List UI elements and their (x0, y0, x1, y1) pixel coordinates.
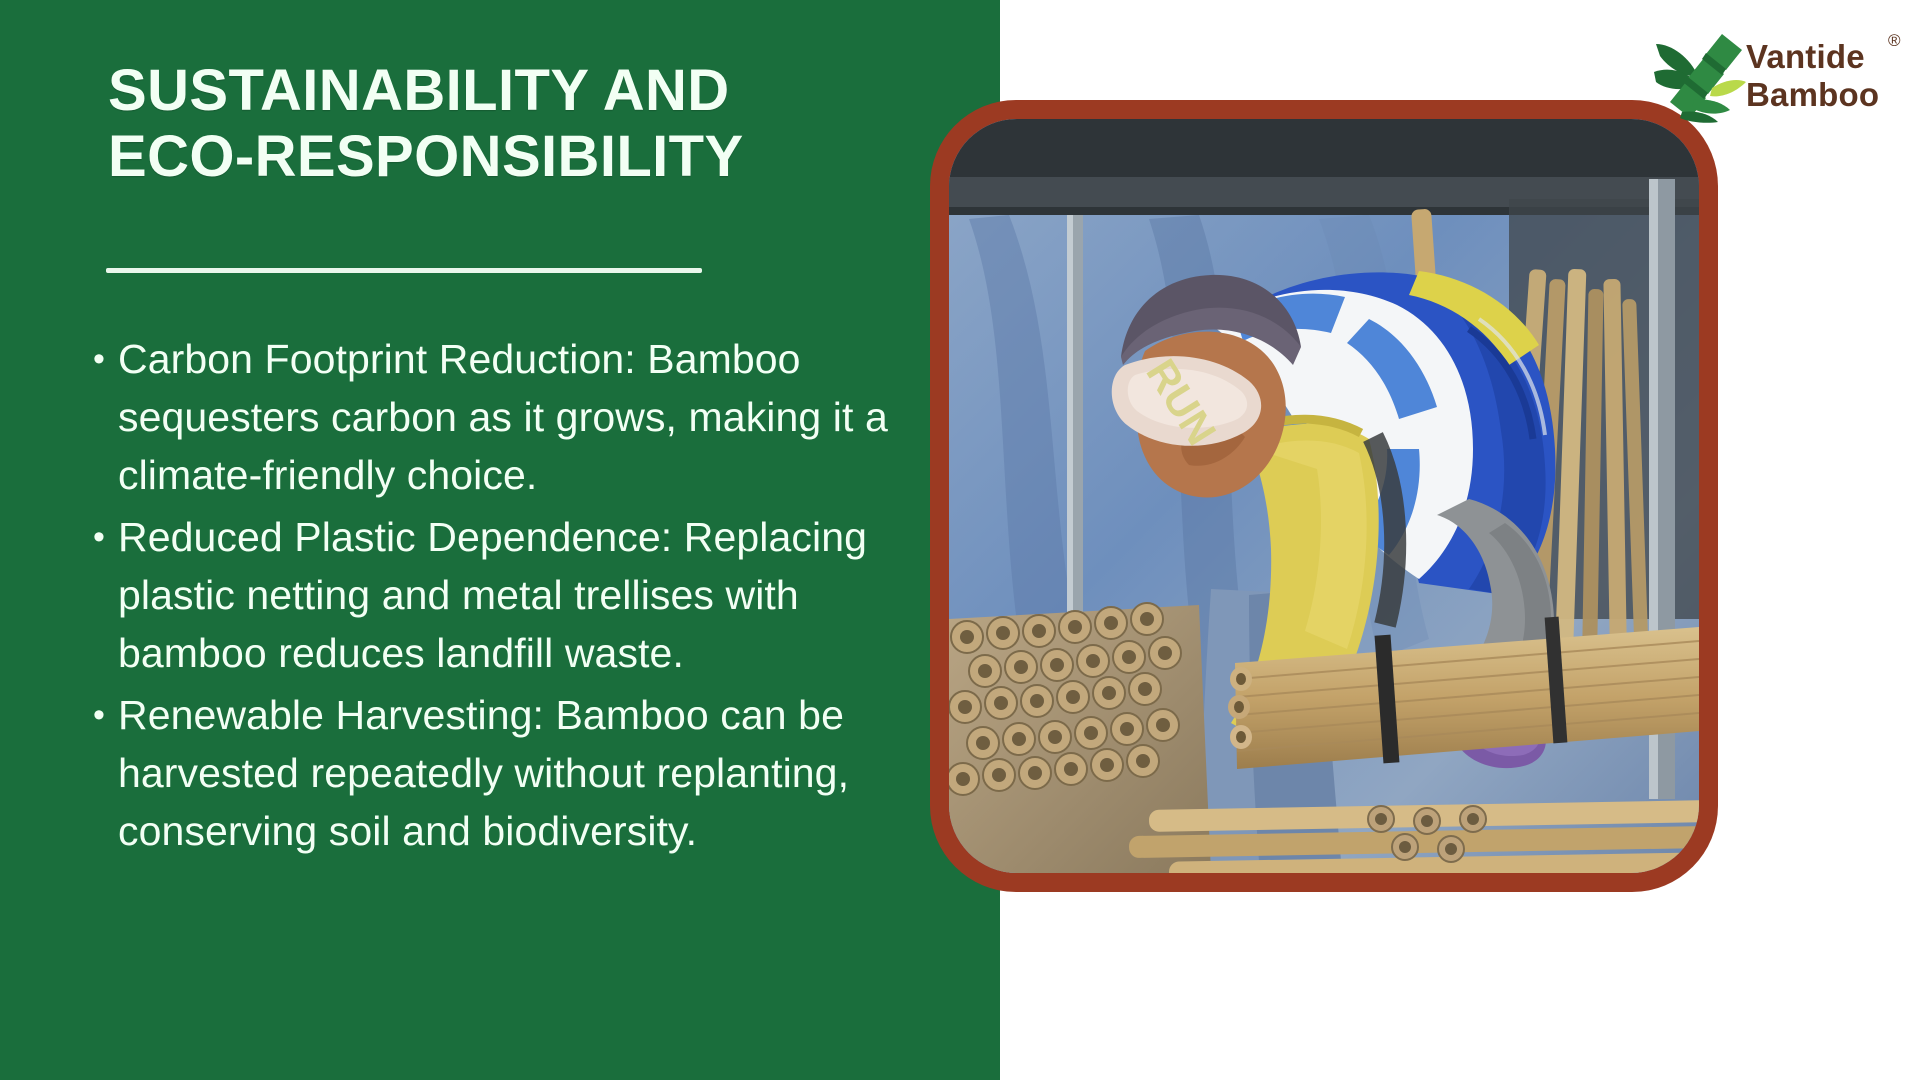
bullet-dot-icon: • (80, 686, 118, 744)
bamboo-stalk-logo-icon (1652, 28, 1748, 124)
brand-logo[interactable]: Vantide Bamboo ® (1652, 24, 1904, 130)
list-item: • Reduced Plastic Dependence: Replacing … (80, 508, 920, 682)
bullet-text: Reduced Plastic Dependence: Replacing pl… (118, 508, 920, 682)
photo-illustration: RUN (949, 119, 1699, 873)
logo-name-line1: Vantide (1746, 38, 1879, 76)
page-title: SUSTAINABILITY AND ECO-RESPONSIBILITY (108, 58, 908, 189)
photo-frame: RUN (930, 100, 1718, 892)
list-item: • Renewable Harvesting: Bamboo can be ha… (80, 686, 920, 860)
registered-trademark-icon: ® (1888, 32, 1901, 49)
logo-wordmark: Vantide Bamboo (1746, 38, 1879, 114)
bamboo-stack (949, 603, 1211, 873)
bullet-text: Carbon Footprint Reduction: Bamboo seque… (118, 330, 920, 504)
bullet-dot-icon: • (80, 508, 118, 566)
bamboo-poles-foreground (1129, 800, 1699, 873)
list-item: • Carbon Footprint Reduction: Bamboo seq… (80, 330, 920, 504)
bullet-text: Renewable Harvesting: Bamboo can be harv… (118, 686, 920, 860)
bullet-list: • Carbon Footprint Reduction: Bamboo seq… (80, 330, 920, 864)
logo-name-line2: Bamboo (1746, 76, 1879, 114)
bullet-dot-icon: • (80, 330, 118, 388)
bamboo-worker-photo: RUN (949, 119, 1699, 873)
title-divider (106, 268, 702, 273)
